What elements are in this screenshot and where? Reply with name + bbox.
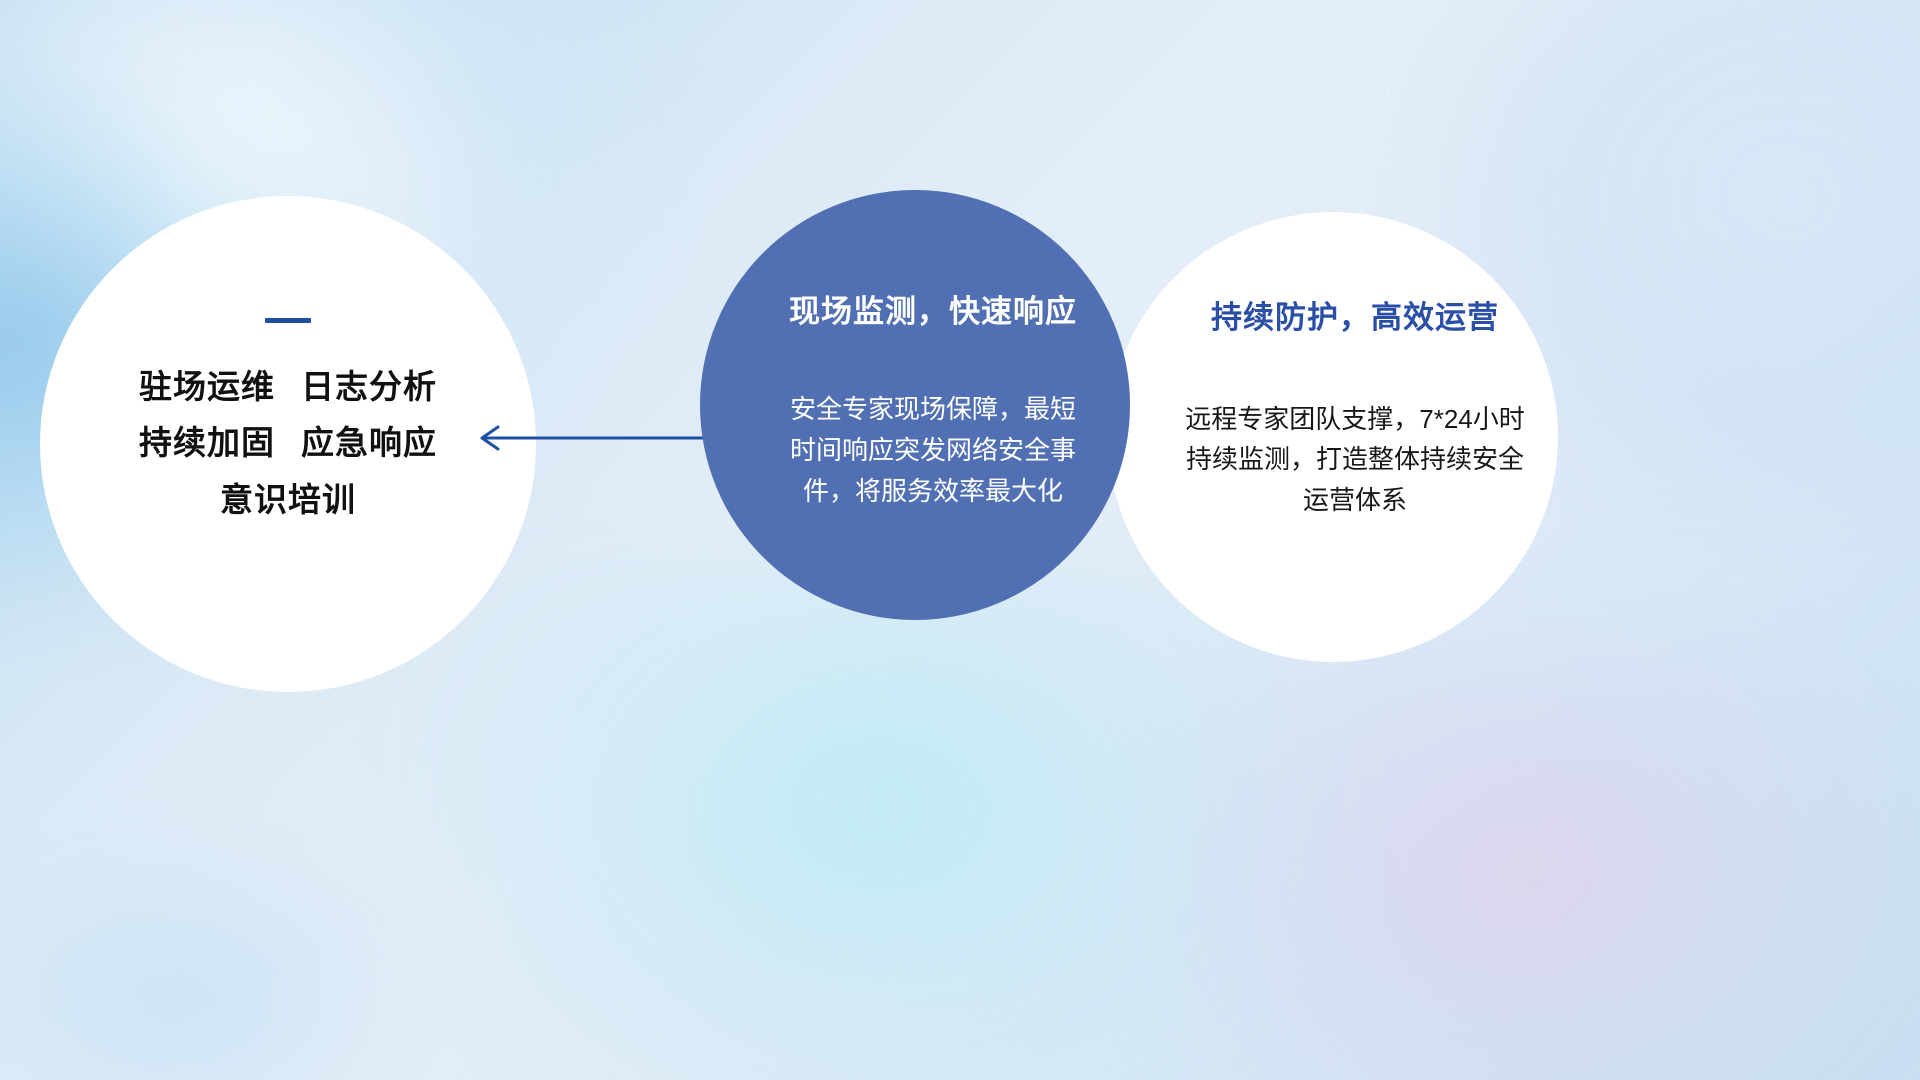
right-service-circle: 持续防护，高效运营 远程专家团队支撑，7*24小时持续监测，打造整体持续安全运营… — [1108, 212, 1558, 662]
capability-list: 驻场运维日志分析 持续加固应急响应 意识培训 — [139, 369, 437, 518]
right-circle-body: 远程专家团队支撑，7*24小时持续监测，打造整体持续安全运营体系 — [1175, 399, 1535, 520]
capability-row: 驻场运维日志分析 — [139, 369, 437, 405]
capability-item: 日志分析 — [301, 368, 437, 405]
capability-row: 意识培训 — [220, 482, 356, 518]
middle-circle-body: 安全专家现场保障，最短时间响应突发网络安全事件，将服务效率最大化 — [783, 389, 1083, 512]
capability-item: 持续加固 — [139, 424, 275, 461]
left-capability-circle: 驻场运维日志分析 持续加固应急响应 意识培训 — [40, 196, 536, 692]
slide-canvas: 驻场运维日志分析 持续加固应急响应 意识培训 持续防护，高效运营 远程专家团队支… — [0, 0, 1920, 1080]
middle-circle-title: 现场监测，快速响应 — [789, 286, 1077, 331]
capability-row: 持续加固应急响应 — [139, 425, 437, 461]
background-glow-bottom-left — [0, 830, 440, 1080]
middle-service-circle: 现场监测，快速响应 安全专家现场保障，最短时间响应突发网络安全事件，将服务效率最… — [700, 190, 1130, 620]
capability-item: 意识培训 — [220, 481, 356, 518]
divider-dash-icon — [265, 318, 311, 323]
background-glow-bottom-right-violet — [1150, 640, 1910, 1080]
capability-item: 应急响应 — [301, 424, 437, 461]
capability-item: 驻场运维 — [139, 368, 275, 405]
right-circle-title: 持续防护，高效运营 — [1211, 292, 1499, 337]
